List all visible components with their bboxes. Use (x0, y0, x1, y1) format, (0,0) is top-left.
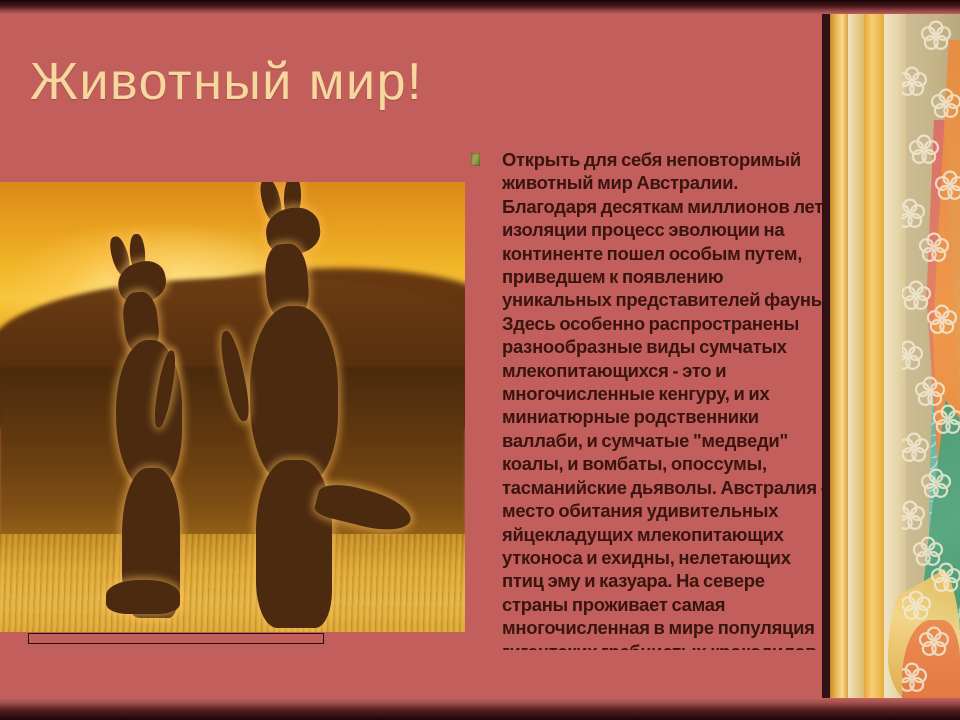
caption-placeholder[interactable] (28, 633, 324, 644)
page-title: Животный мир! (30, 52, 423, 112)
floral-motif-icon (902, 0, 960, 720)
body-paragraph: Открыть для себя неповторимый животный м… (502, 148, 822, 650)
kangaroo-silhouette-large (212, 190, 412, 630)
body-text-block: Открыть для себя неповторимый животный м… (466, 140, 822, 650)
kangaroo-leg (256, 460, 332, 628)
ornamental-side-border (822, 0, 960, 720)
kangaroo-torso (250, 306, 338, 486)
presentation-slide: Животный мир! (0, 0, 960, 720)
kangaroo-foot (106, 580, 180, 614)
kangaroo-arm (217, 329, 254, 423)
square-bullet-icon (471, 153, 480, 166)
kangaroo-photo (0, 182, 465, 632)
slide-bottom-edge (0, 698, 960, 720)
slide-top-edge (0, 0, 960, 14)
